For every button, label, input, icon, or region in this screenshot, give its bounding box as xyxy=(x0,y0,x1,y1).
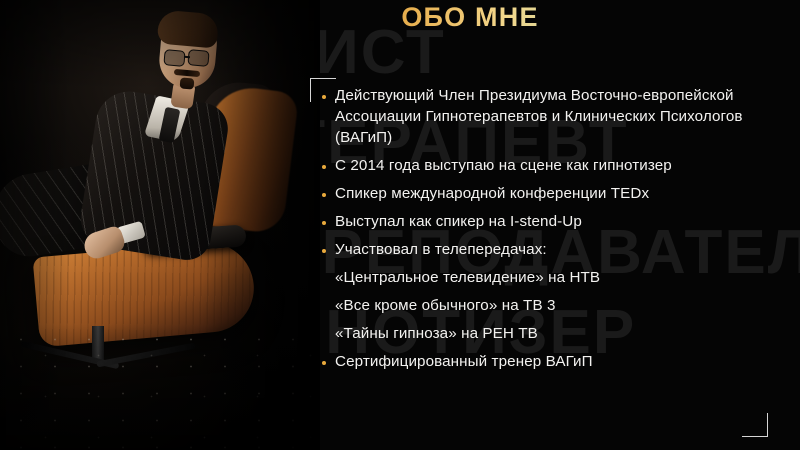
list-item-text: С 2014 года выступаю на сцене как гипнот… xyxy=(335,156,672,177)
list-item-text: Спикер международной конференции TEDx xyxy=(335,184,649,205)
list-item: С 2014 года выступаю на сцене как гипнот… xyxy=(322,156,792,177)
bullet-dot-icon xyxy=(322,361,326,365)
sub-list-item-text: «Центральное телевидение» на НТВ xyxy=(335,268,600,289)
list-item: Участвовал в телепередачах: xyxy=(322,240,792,261)
list-item: Действующий Член Президиума Восточно-евр… xyxy=(322,86,792,149)
list-item-text: Сертифицированный тренер ВАГиП xyxy=(335,352,593,373)
list-item: Выступал как спикер на I-stend-Up xyxy=(322,212,792,233)
corner-bracket-bottom-right-icon xyxy=(742,413,768,437)
sub-list-item: «Все кроме обычного» на ТВ 3 xyxy=(322,296,792,317)
page-title: ОБО МНЕ xyxy=(320,2,620,33)
sub-list-item: «Тайны гипноза» на РЕН ТВ xyxy=(322,324,792,345)
bullet-dot-icon xyxy=(322,165,326,169)
portrait-photo xyxy=(0,0,320,450)
bullet-dot-icon xyxy=(322,249,326,253)
list-item: Спикер международной конференции TEDx xyxy=(322,184,792,205)
list-item-text: Участвовал в телепередачах: xyxy=(335,240,547,261)
bullet-dot-icon xyxy=(322,95,326,99)
sub-list-item-text: «Все кроме обычного» на ТВ 3 xyxy=(335,296,556,317)
slide-root: ЕНТАЛИСТ ГИПНОТЕРАПЕВТ ПРЕПОДАВАТЕЛЬ ГИП… xyxy=(0,0,800,450)
sub-list-item-text: «Тайны гипноза» на РЕН ТВ xyxy=(335,324,538,345)
list-item-text: Действующий Член Президиума Восточно-евр… xyxy=(335,86,792,149)
list-item-text: Выступал как спикер на I-stend-Up xyxy=(335,212,582,233)
bullet-list: Действующий Член Президиума Восточно-евр… xyxy=(322,86,792,380)
bullet-dot-icon xyxy=(322,221,326,225)
sub-list-item: «Центральное телевидение» на НТВ xyxy=(322,268,792,289)
list-item: Сертифицированный тренер ВАГиП xyxy=(322,352,792,373)
bullet-dot-icon xyxy=(322,193,326,197)
photo-vignette xyxy=(0,0,320,450)
